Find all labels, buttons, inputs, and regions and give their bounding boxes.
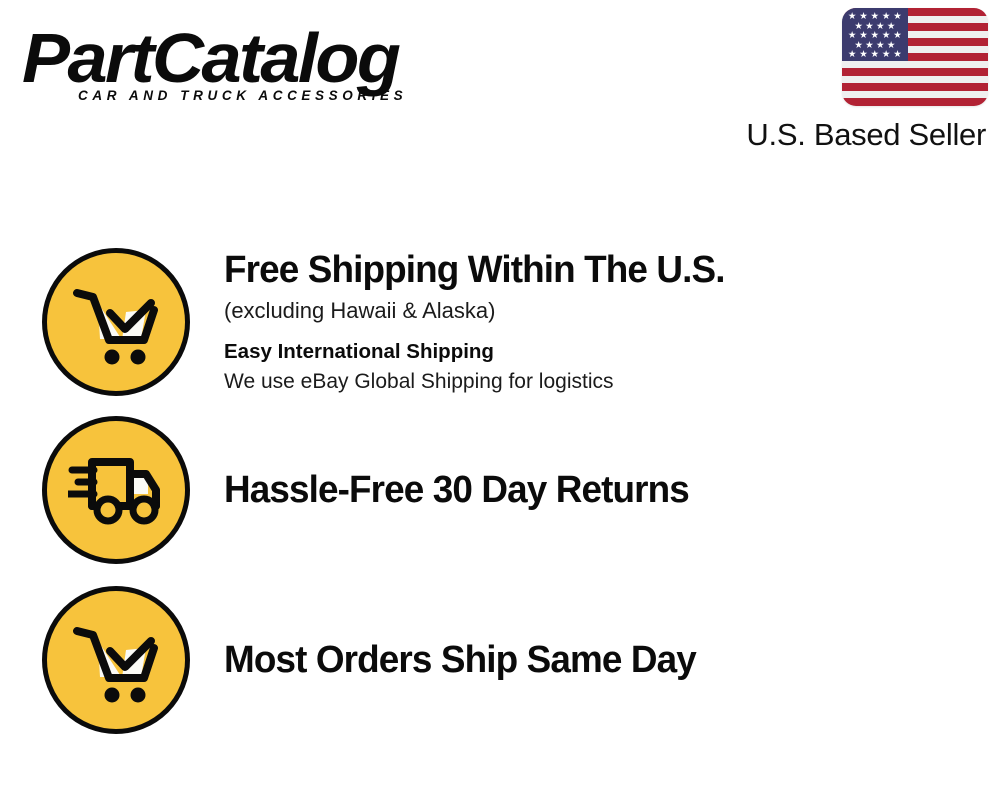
feature-secondary-title: Easy International Shipping — [224, 338, 980, 366]
delivery-truck-icon — [42, 416, 190, 564]
brand-logo[interactable]: PartCatalog CAR AND TRUCK ACCESSORIES — [22, 22, 492, 112]
star-icon: ★ — [848, 50, 857, 60]
page-header: PartCatalog CAR AND TRUCK ACCESSORIES — [0, 0, 1000, 175]
flag-star-row: ★ ★ ★ ★ ★ — [845, 50, 905, 60]
feature-text-block: Hassle-Free 30 Day Returns — [224, 468, 1000, 512]
feature-row: Most Orders Ship Same Day — [0, 580, 1000, 740]
star-icon: ★ — [893, 50, 902, 60]
feature-row: Hassle-Free 30 Day Returns — [0, 410, 1000, 570]
feature-title: Most Orders Ship Same Day — [224, 638, 957, 682]
feature-text-block: Most Orders Ship Same Day — [224, 638, 1000, 682]
flag-canton: ★ ★ ★ ★ ★ ★ ★ ★ ★ ★ ★ ★ ★ ★ — [842, 8, 908, 61]
feature-text-block: Free Shipping Within The U.S. (excluding… — [224, 248, 1000, 396]
us-based-seller-badge: ★ ★ ★ ★ ★ ★ ★ ★ ★ ★ ★ ★ ★ ★ — [708, 8, 988, 153]
shopping-cart-check-icon — [42, 248, 190, 396]
feature-title: Free Shipping Within The U.S. — [224, 248, 957, 292]
shopping-cart-check-icon — [42, 586, 190, 734]
star-icon: ★ — [859, 50, 868, 60]
star-icon: ★ — [882, 50, 891, 60]
brand-wordmark: PartCatalog — [22, 22, 506, 94]
feature-title: Hassle-Free 30 Day Returns — [224, 468, 957, 512]
us-based-seller-label: U.S. Based Seller — [708, 117, 986, 153]
feature-subtitle: (excluding Hawaii & Alaska) — [224, 296, 980, 326]
feature-secondary-body: We use eBay Global Shipping for logistic… — [224, 367, 980, 396]
us-flag-icon: ★ ★ ★ ★ ★ ★ ★ ★ ★ ★ ★ ★ ★ ★ — [842, 8, 988, 106]
star-icon: ★ — [871, 50, 880, 60]
feature-row: Free Shipping Within The U.S. (excluding… — [0, 232, 1000, 412]
